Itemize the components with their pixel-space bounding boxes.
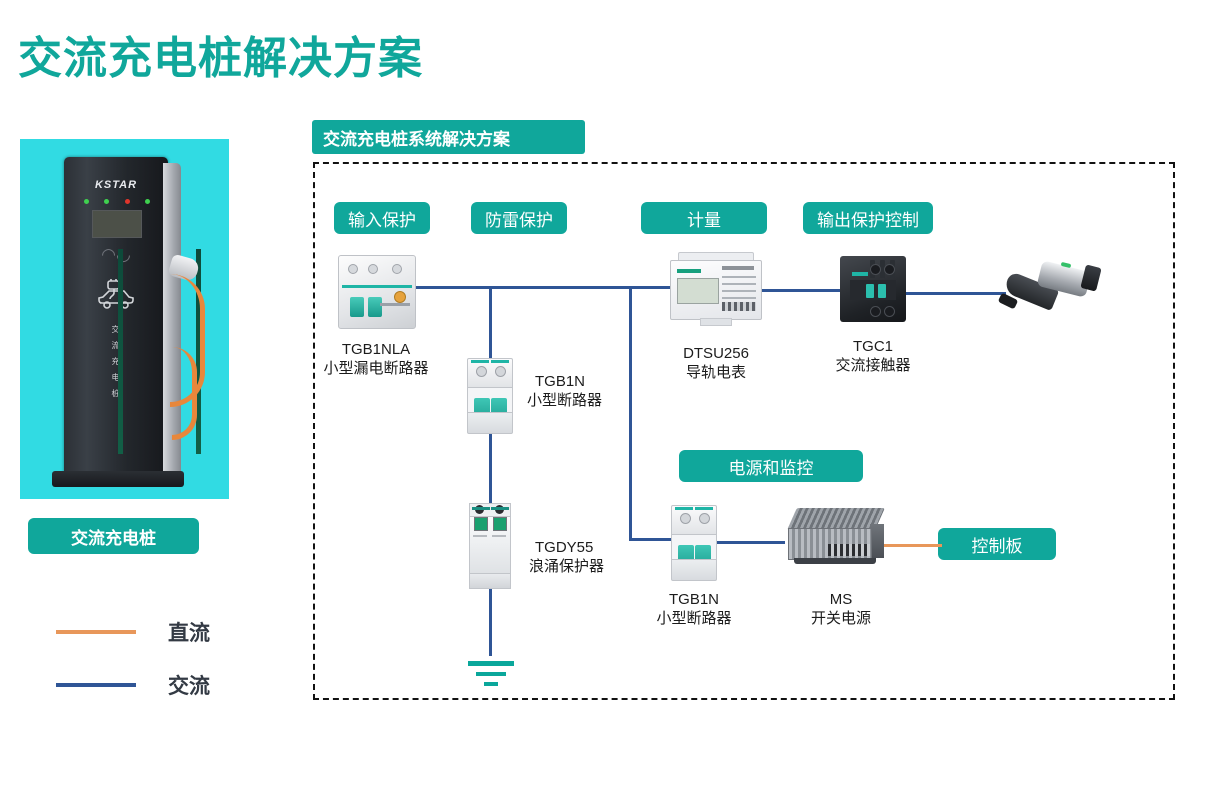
wire-ac-drop-to-mcb (489, 286, 492, 358)
wire-ac-meter-to-contactor (750, 289, 840, 292)
category-badge-surge-protection: 防雷保护 (471, 202, 567, 234)
product-caption-badge: 交流充电桩 (28, 518, 199, 554)
device-label-rcbo: TGB1NLA小型漏电断路器 (281, 340, 471, 378)
category-badge-control-board: 控制板 (938, 528, 1056, 560)
diagram-banner-title: 交流充电桩系统解决方案 (312, 120, 585, 154)
ev-charging-icon (94, 279, 138, 311)
wire-ac-main-bus-left (398, 286, 678, 289)
wire-dc-psu-to-control-board (880, 544, 942, 547)
legend-label-dc: 直流 (168, 617, 210, 647)
charging-pile-body: KSTAR ◠◡ 交流充电桩 (64, 157, 168, 479)
device-switching-power-supply (788, 508, 884, 568)
legend-item-dc: 直流 (56, 617, 210, 647)
legend-item-ac: 交流 (56, 670, 210, 700)
wire-ac-mcb-to-spd (489, 424, 492, 504)
pile-led-indicators (84, 199, 150, 204)
page-title: 交流充电桩解决方案 (18, 22, 423, 86)
device-energy-meter (670, 252, 762, 326)
product-photo: KSTAR ◠◡ 交流充电桩 (20, 139, 229, 499)
category-badge-input-protection: 输入保护 (334, 202, 430, 234)
legend-line-ac (56, 683, 136, 687)
pile-charging-cable-loop (172, 347, 197, 440)
legend-line-dc (56, 630, 136, 634)
wire-ac-spd-to-ground (489, 588, 492, 656)
device-label-contactor: TGC1交流接触器 (803, 337, 943, 375)
device-contactor (840, 252, 906, 326)
category-badge-output-control: 输出保护控制 (803, 202, 933, 234)
pile-light-strip-left (118, 249, 123, 454)
wire-ac-contactor-to-gun (906, 292, 1006, 295)
rfid-wave-icon: ◠◡ (64, 245, 168, 265)
device-label-spd: TGDY55浪涌保护器 (489, 538, 679, 576)
pile-display-screen (92, 210, 142, 238)
wire-ac-drop-to-aux-branch (629, 286, 632, 541)
device-rcbo (338, 255, 416, 329)
pile-brand-label: KSTAR (64, 179, 168, 191)
device-label-power-supply: MS开关电源 (766, 590, 916, 628)
device-mcb-lower (671, 505, 717, 581)
charging-pile-base (52, 471, 184, 487)
wire-ac-mcb-to-psu (717, 541, 785, 544)
device-label-mcb-lower: TGB1N小型断路器 (619, 590, 769, 628)
category-badge-metering: 计量 (641, 202, 767, 234)
device-label-energy-meter: DTSU256导轨电表 (631, 344, 801, 382)
pile-vertical-text: 交流充电桩 (64, 322, 168, 402)
legend-label-ac: 交流 (168, 670, 210, 700)
device-charging-connector (999, 252, 1097, 322)
category-badge-power-monitoring: 电源和监控 (679, 450, 863, 482)
